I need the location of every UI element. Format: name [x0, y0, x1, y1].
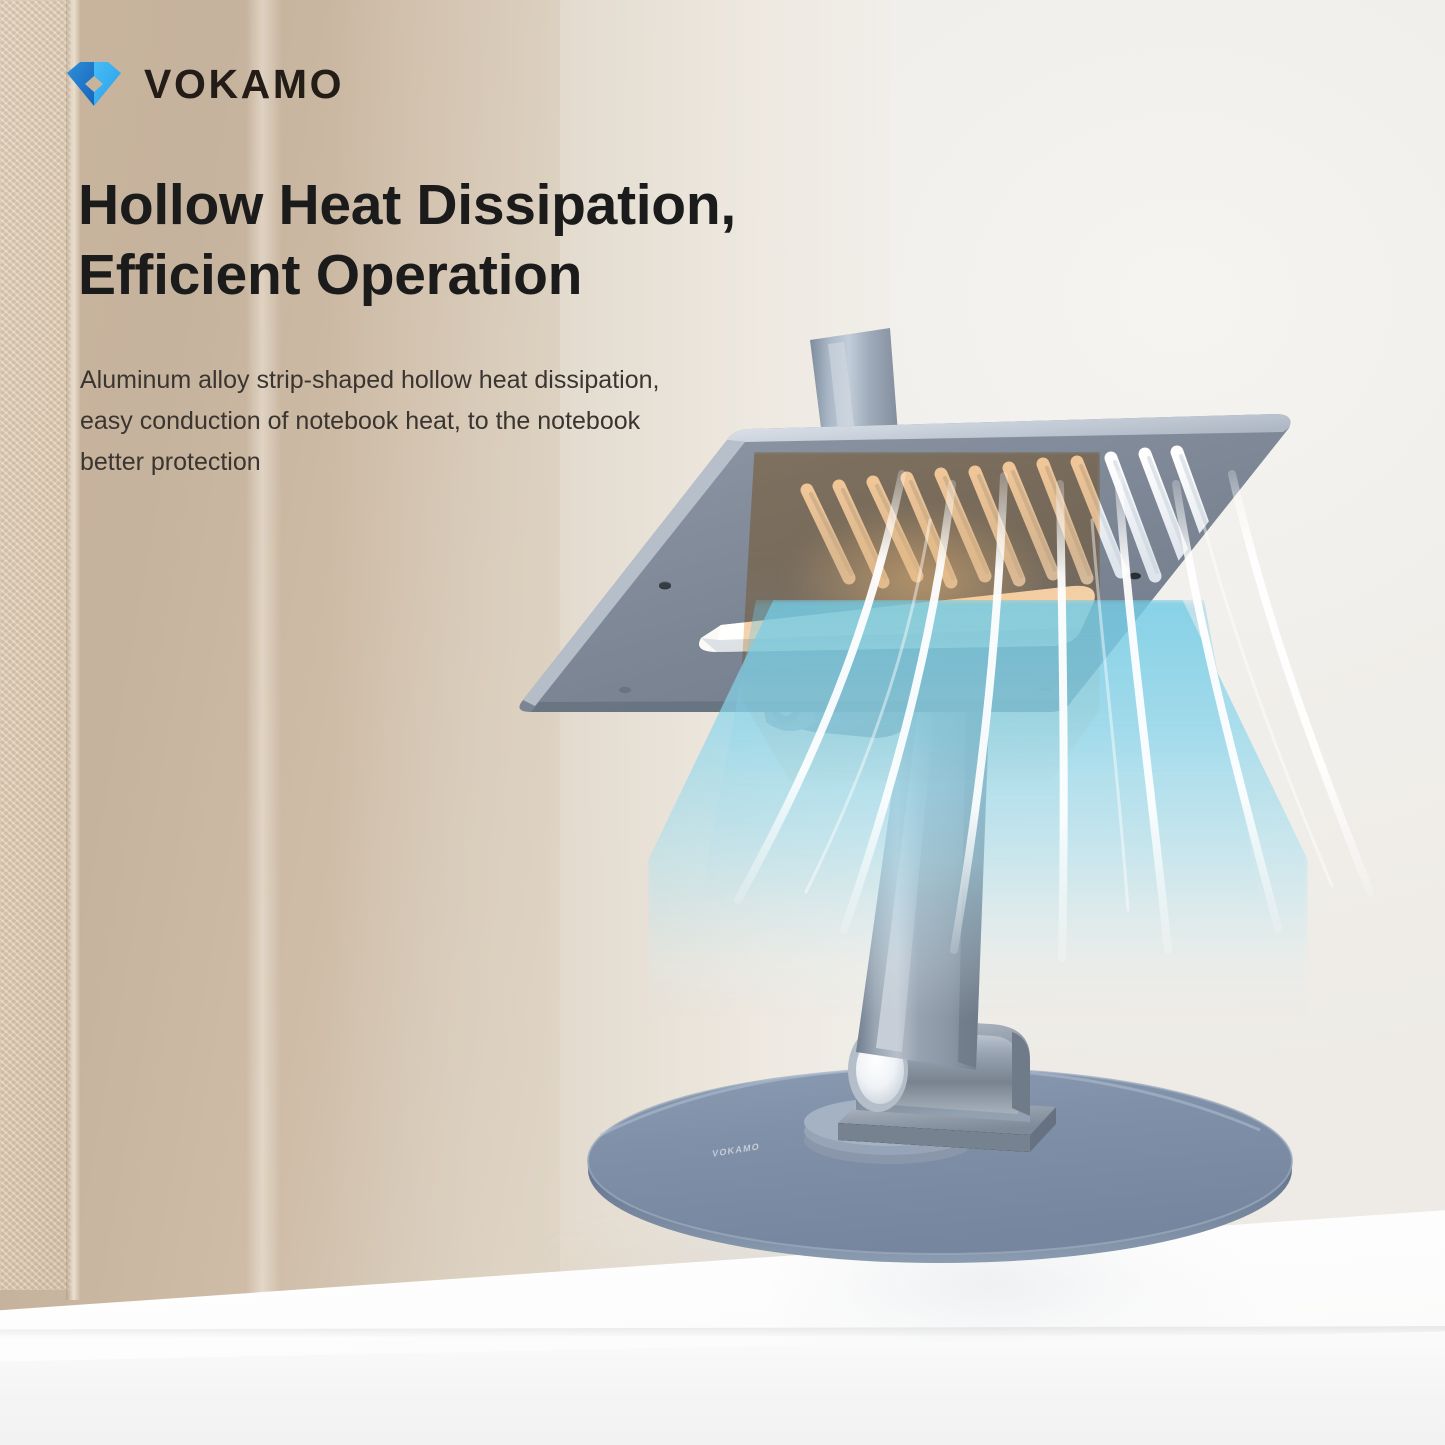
headline-line-2: Efficient Operation [78, 240, 938, 310]
brand-wordmark: VOKAMO [144, 64, 344, 105]
headline-line-1: Hollow Heat Dissipation, [78, 173, 736, 237]
diamond-gem-icon [66, 60, 122, 108]
airflow-line-group [600, 430, 1360, 1050]
brand-logo-row: VOKAMO [66, 60, 344, 108]
product-marketing-banner: VOKAMO VOKAMO Hollow Heat Dissipation, [0, 0, 1445, 1445]
subcopy-line-1: Aluminum alloy strip-shaped hollow heat … [80, 360, 780, 401]
page-subcopy: Aluminum alloy strip-shaped hollow heat … [80, 360, 780, 482]
subcopy-line-3: better protection [80, 442, 780, 483]
page-title: Hollow Heat Dissipation, Efficient Opera… [78, 170, 938, 310]
subcopy-line-2: easy conduction of notebook heat, to the… [80, 401, 780, 442]
